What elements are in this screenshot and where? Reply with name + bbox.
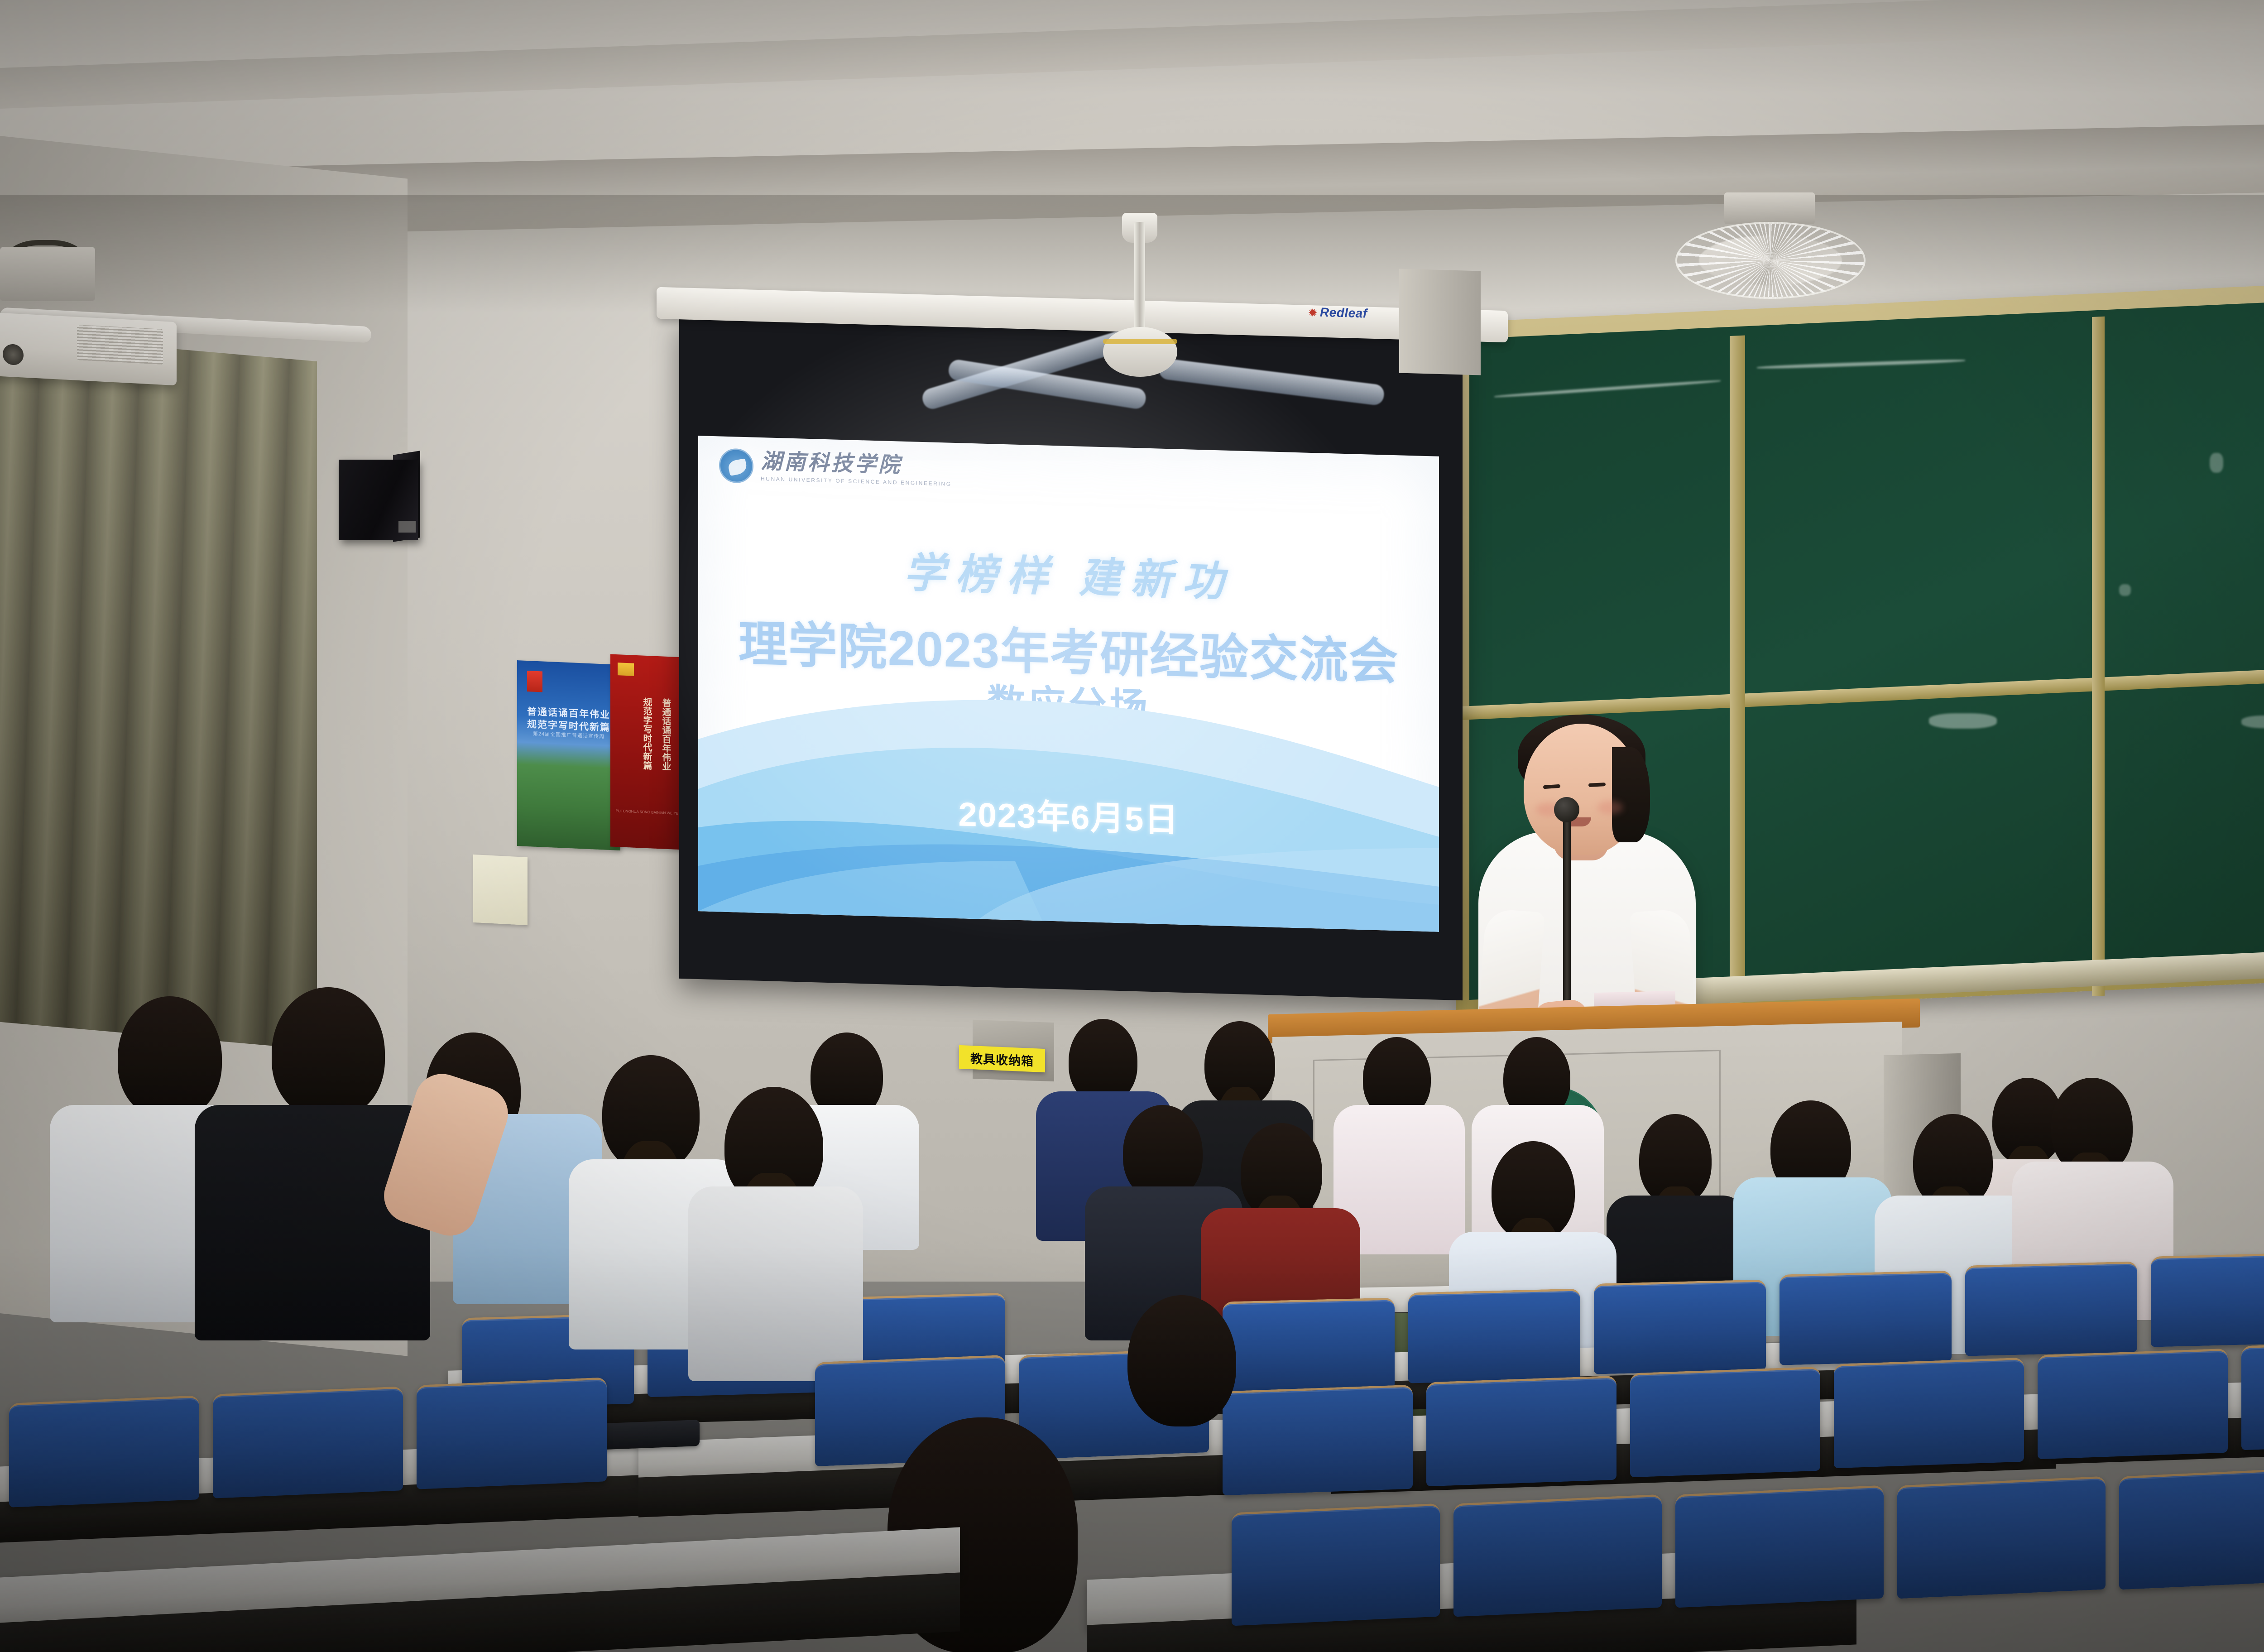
curtain-shading: [0, 333, 317, 1050]
logo-text-cn: 湖南科技学院: [761, 451, 952, 478]
chair[interactable]: [1223, 1297, 1395, 1392]
poster-mandarin-red: 普通话诵百年伟业 规范字写时代新篇 PUTONGHUA SONG BAINIAN…: [610, 654, 684, 850]
poster-flag-icon: [527, 671, 542, 692]
logo-text-en: HUNAN UNIVERSITY OF SCIENCE AND ENGINEER…: [761, 475, 952, 487]
student-torso: [195, 1105, 430, 1340]
chair[interactable]: [1594, 1279, 1766, 1374]
chair[interactable]: [2151, 1252, 2264, 1347]
caged-fan-mount: [1724, 192, 1815, 224]
student-head: [118, 996, 222, 1119]
chair[interactable]: [9, 1395, 199, 1508]
slide-logo: 湖南科技学院 HUNAN UNIVERSITY OF SCIENCE AND E…: [719, 448, 952, 489]
ceiling-fan-band: [1103, 339, 1177, 344]
chair[interactable]: [1630, 1367, 1820, 1478]
chair[interactable]: [1675, 1485, 1884, 1608]
projector-vent: [77, 325, 163, 365]
electrical-panel-icon: [473, 855, 528, 925]
classroom-scene: 普通话诵百年伟业 规范字写时代新篇 第24届全国推广普通话宣传周 普通话诵百年伟…: [0, 0, 2264, 1652]
presenter-hair-side: [1612, 747, 1650, 842]
blackboard-mullion: [1730, 335, 1745, 1006]
crane-emblem-icon: [719, 448, 753, 483]
chalk-mark: [2210, 453, 2223, 473]
presenter-cheek: [1597, 801, 1623, 814]
chair[interactable]: [1408, 1288, 1580, 1383]
chair[interactable]: [417, 1377, 607, 1489]
ceiling-fan-rod: [1134, 222, 1145, 335]
handheld-microphone-icon: [1554, 797, 1579, 822]
chair[interactable]: [213, 1386, 403, 1498]
chair[interactable]: [1780, 1270, 1952, 1365]
poster-mandarin-blue: 普通话诵百年伟业 规范字写时代新篇 第24届全国推广普通话宣传周: [517, 660, 620, 850]
poster-red-footnote: PUTONGHUA SONG BAINIAN WEIYE: [615, 808, 679, 816]
chalk-mark: [1929, 713, 1997, 729]
student-head: [1069, 1019, 1137, 1103]
screen-brand-label: Redleaf: [1309, 305, 1408, 322]
poster-red-column1: 普通话诵百年伟业: [657, 698, 671, 771]
student-head: [1123, 1105, 1203, 1200]
chair[interactable]: [1965, 1261, 2137, 1356]
wall-shadow: [0, 195, 2264, 312]
blackboard-mullion: [2092, 317, 2105, 996]
chair[interactable]: [1426, 1376, 1616, 1487]
chair[interactable]: [2241, 1340, 2264, 1450]
chair[interactable]: [1453, 1494, 1662, 1617]
chair[interactable]: [1834, 1358, 2024, 1469]
student-head: [272, 987, 385, 1119]
speaker-badge: [398, 521, 416, 533]
slide-calligraphy-headline: 学榜样 建新功: [698, 533, 1439, 614]
poster-red-column2: 规范字写时代新篇: [638, 697, 652, 770]
poster-red-flag-icon: [618, 663, 634, 676]
projection-screen: 湖南科技学院 HUNAN UNIVERSITY OF SCIENCE AND E…: [698, 436, 1439, 932]
student-head: [1127, 1295, 1236, 1426]
chair[interactable]: [2038, 1349, 2228, 1460]
chair[interactable]: [1897, 1476, 2106, 1599]
ceiling-fan-icon: [1103, 327, 1177, 377]
chair[interactable]: [1232, 1503, 1440, 1626]
tool-box-sign-label: 教具收纳箱: [970, 1048, 1034, 1069]
student-torso: [688, 1186, 863, 1381]
caged-wall-fan-icon: [1675, 222, 1866, 299]
chair[interactable]: [1223, 1385, 1413, 1496]
screen-bracket: [1399, 269, 1481, 375]
chair[interactable]: [2119, 1467, 2264, 1590]
tool-box-sign: 教具收纳箱: [959, 1045, 1045, 1072]
projector-mount: [0, 247, 95, 301]
chalk-mark: [2119, 584, 2131, 596]
